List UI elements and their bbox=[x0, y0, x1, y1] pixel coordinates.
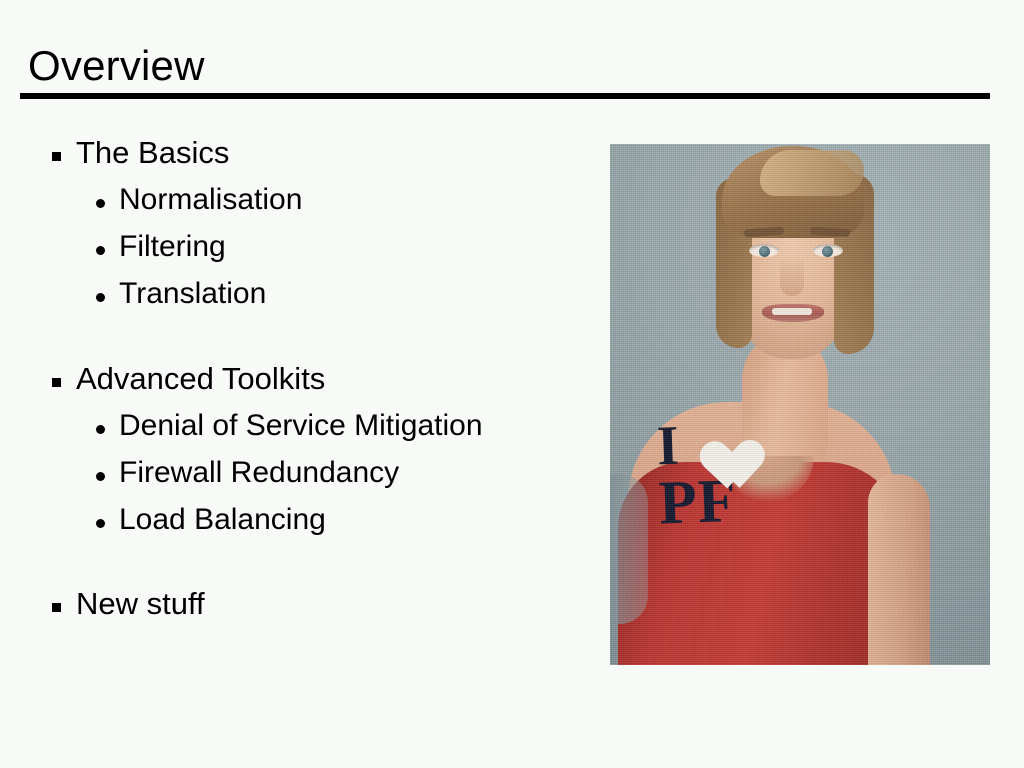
dot-bullet-icon bbox=[95, 409, 119, 443]
bullet-denial-of-service-mitigation: Denial of Service Mitigation bbox=[44, 409, 589, 456]
square-bullet-icon bbox=[52, 362, 76, 396]
bullet-label: Load Balancing bbox=[119, 503, 326, 537]
square-bullet-icon bbox=[52, 136, 76, 170]
shirt-graphic-letter-i: I bbox=[656, 420, 680, 473]
figure-armhole-left bbox=[610, 474, 648, 624]
figure-eye-left bbox=[749, 244, 779, 257]
bullet-normalisation: Normalisation bbox=[44, 183, 589, 230]
bullet-the-basics: The Basics bbox=[44, 136, 589, 183]
dot-bullet-icon bbox=[95, 277, 119, 311]
bullet-list: The Basics Normalisation Filtering Trans… bbox=[44, 136, 589, 634]
slide-photo: I PF bbox=[610, 144, 990, 665]
figure-nose bbox=[780, 256, 804, 296]
figure-arm-right bbox=[868, 474, 930, 665]
bullet-load-balancing: Load Balancing bbox=[44, 503, 589, 550]
figure-mouth bbox=[762, 304, 824, 322]
bullet-label: Firewall Redundancy bbox=[119, 456, 399, 490]
dot-bullet-icon bbox=[95, 456, 119, 490]
shirt-graphic: I PF bbox=[656, 417, 749, 532]
dot-bullet-icon bbox=[95, 230, 119, 264]
bullet-label: Normalisation bbox=[119, 183, 302, 217]
bullet-new-stuff: New stuff bbox=[44, 587, 589, 634]
dot-bullet-icon bbox=[95, 183, 119, 217]
title-divider bbox=[20, 93, 990, 99]
bullet-label: Advanced Toolkits bbox=[76, 362, 325, 396]
heart-icon bbox=[687, 417, 747, 471]
bullet-label: Translation bbox=[119, 277, 266, 311]
figure-hair-sweep bbox=[760, 150, 864, 196]
group-spacer bbox=[44, 550, 589, 587]
group-spacer bbox=[44, 324, 589, 362]
bullet-advanced-toolkits: Advanced Toolkits bbox=[44, 362, 589, 409]
bullet-label: The Basics bbox=[76, 136, 229, 170]
bullet-label: New stuff bbox=[76, 587, 205, 621]
bullet-label: Filtering bbox=[119, 230, 226, 264]
page-title: Overview bbox=[28, 42, 205, 90]
square-bullet-icon bbox=[52, 587, 76, 621]
slide-canvas: Overview The Basics Normalisation Filter… bbox=[0, 0, 1024, 768]
bullet-filtering: Filtering bbox=[44, 230, 589, 277]
dot-bullet-icon bbox=[95, 503, 119, 537]
bullet-label: Denial of Service Mitigation bbox=[119, 409, 483, 443]
figure-eye-right bbox=[813, 244, 843, 257]
bullet-firewall-redundancy: Firewall Redundancy bbox=[44, 456, 589, 503]
bullet-translation: Translation bbox=[44, 277, 589, 324]
